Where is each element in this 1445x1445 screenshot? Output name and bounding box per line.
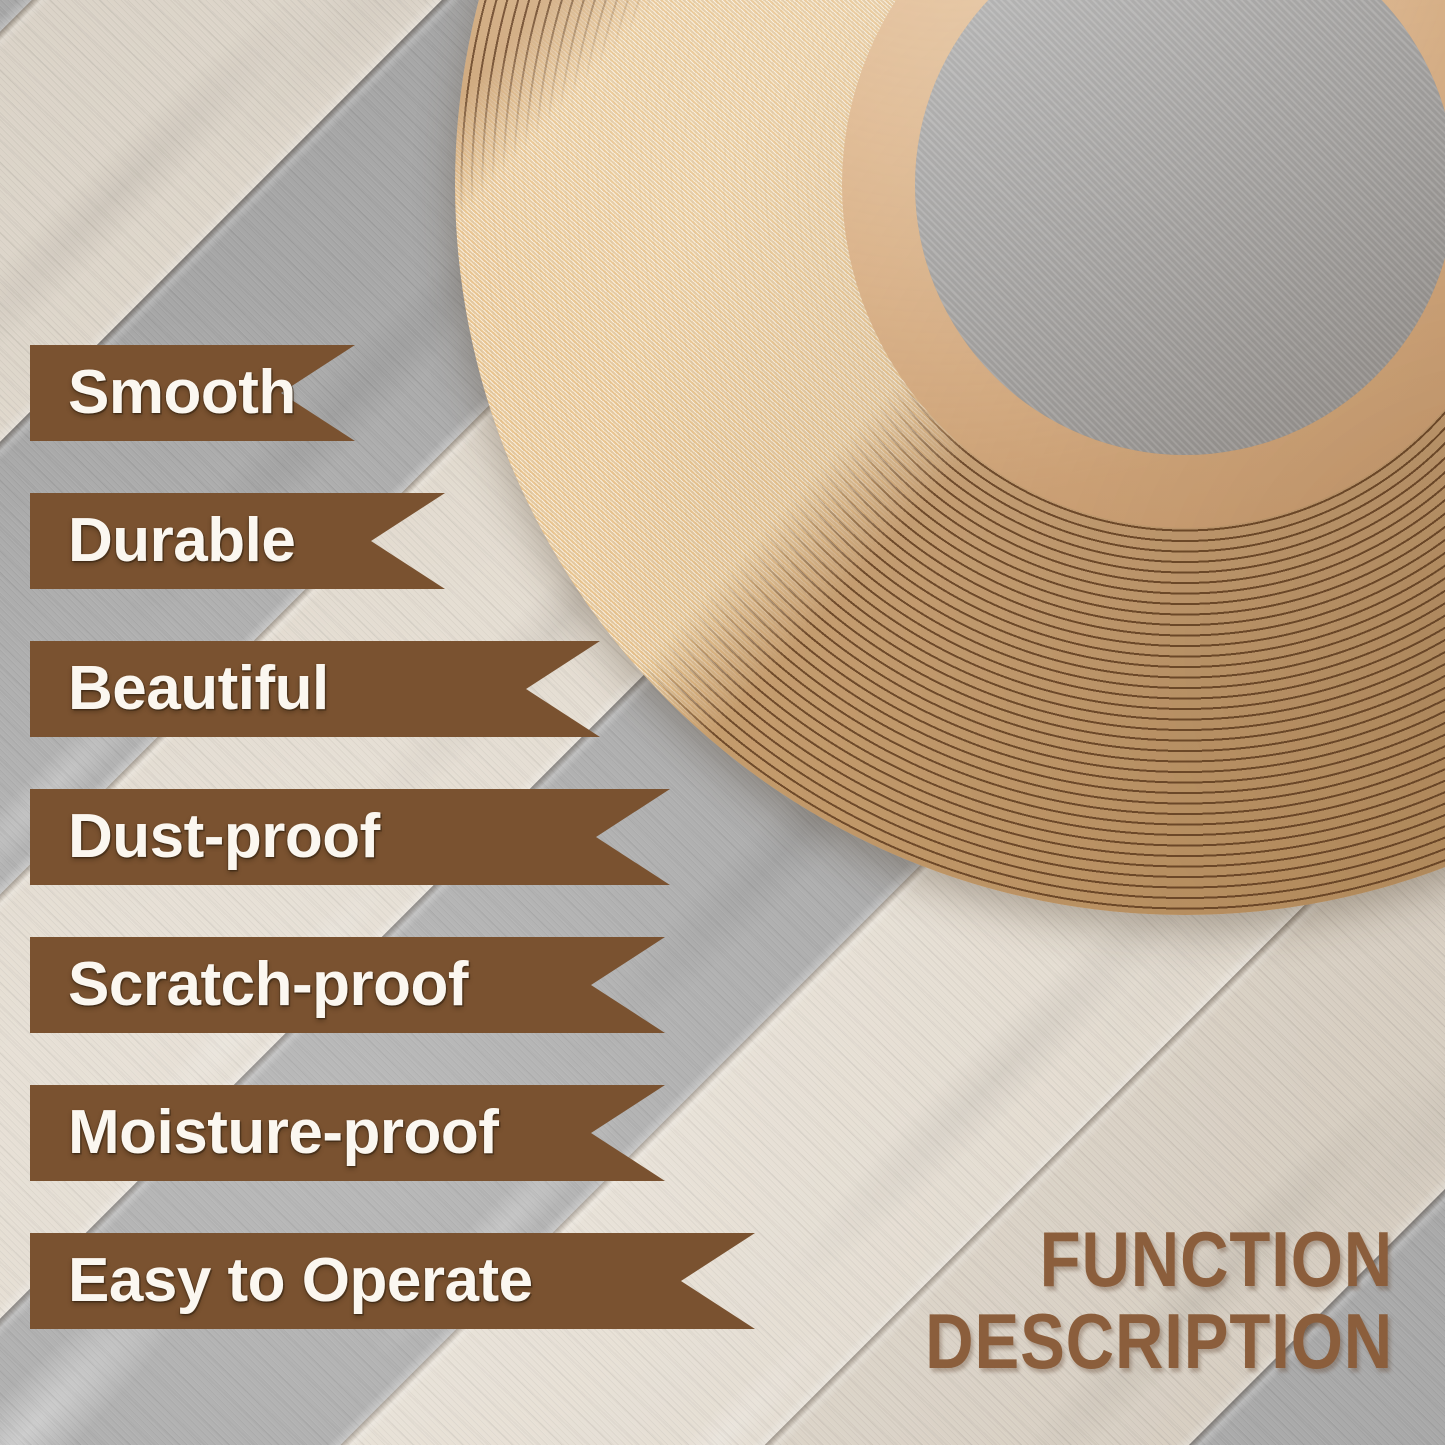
banner-label: Easy to Operate <box>30 1250 533 1312</box>
banner-label: Dust-proof <box>30 806 380 868</box>
banner-label: Scratch-proof <box>30 954 468 1016</box>
feature-banner[interactable]: Easy to Operate <box>30 1233 755 1329</box>
feature-banner[interactable]: Dust-proof <box>30 789 670 885</box>
banner-label: Durable <box>30 510 295 572</box>
feature-banner[interactable]: Scratch-proof <box>30 937 665 1033</box>
function-description-headline: FUNCTION DESCRIPTION <box>925 1218 1393 1383</box>
banner-label: Moisture-proof <box>30 1102 498 1164</box>
banner-label: Beautiful <box>30 658 329 720</box>
banner-label: Smooth <box>30 362 296 424</box>
headline-line-1: FUNCTION <box>925 1218 1393 1301</box>
headline-line-2: DESCRIPTION <box>925 1300 1393 1383</box>
feature-banner[interactable]: Moisture-proof <box>30 1085 665 1181</box>
product-feature-graphic: SmoothDurableBeautifulDust-proofScratch-… <box>0 0 1445 1445</box>
feature-banner[interactable]: Beautiful <box>30 641 600 737</box>
feature-banner[interactable]: Smooth <box>30 345 355 441</box>
feature-banner[interactable]: Durable <box>30 493 445 589</box>
